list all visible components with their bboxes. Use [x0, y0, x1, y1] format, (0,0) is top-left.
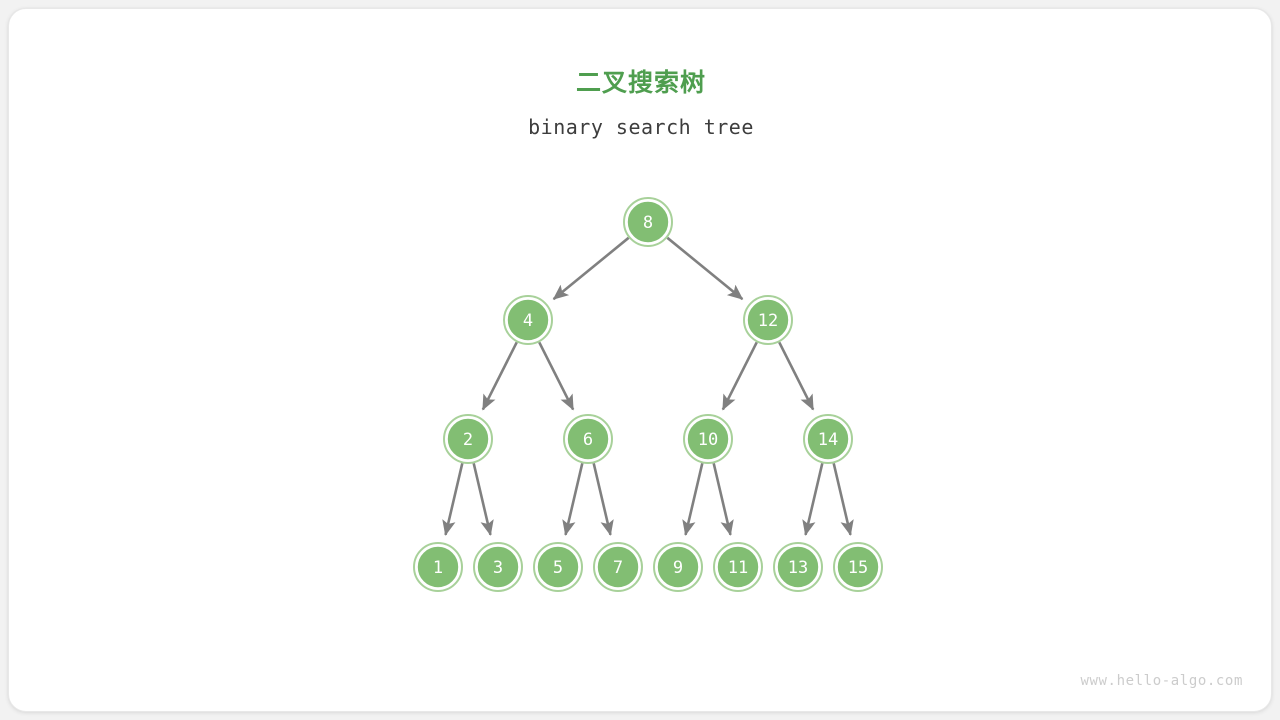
tree-node-8[interactable]: 8 [624, 198, 672, 246]
tree-edge-14-to-15 [834, 463, 851, 535]
node-label-2: 2 [463, 430, 473, 450]
tree-edges [446, 238, 851, 535]
screenshot-stage: 二叉搜索树 binary search tree 841226101413579… [0, 0, 1280, 720]
binary-search-tree-diagram: 841226101413579111315 [9, 9, 1272, 712]
tree-node-13[interactable]: 13 [774, 543, 822, 591]
node-label-4: 4 [523, 311, 533, 331]
tree-edge-8-to-12 [667, 238, 742, 299]
tree-edge-4-to-6 [539, 342, 573, 409]
tree-edge-14-to-13 [806, 463, 823, 535]
tree-edge-10-to-9 [686, 463, 703, 535]
tree-node-14[interactable]: 14 [804, 415, 852, 463]
tree-edge-4-to-2 [483, 342, 517, 409]
tree-node-11[interactable]: 11 [714, 543, 762, 591]
tree-node-15[interactable]: 15 [834, 543, 882, 591]
tree-edge-2-to-3 [474, 463, 491, 535]
node-label-7: 7 [613, 558, 623, 578]
node-label-15: 15 [848, 558, 868, 578]
node-label-12: 12 [758, 311, 778, 331]
node-label-1: 1 [433, 558, 443, 578]
tree-node-1[interactable]: 1 [414, 543, 462, 591]
tree-node-2[interactable]: 2 [444, 415, 492, 463]
tree-node-10[interactable]: 10 [684, 415, 732, 463]
node-label-10: 10 [698, 430, 718, 450]
site-watermark: www.hello-algo.com [1080, 673, 1243, 689]
node-label-8: 8 [643, 213, 653, 233]
tree-edge-12-to-14 [779, 342, 813, 409]
tree-node-3[interactable]: 3 [474, 543, 522, 591]
tree-edge-10-to-11 [714, 463, 731, 535]
node-label-6: 6 [583, 430, 593, 450]
diagram-card: 二叉搜索树 binary search tree 841226101413579… [8, 8, 1272, 712]
tree-edge-6-to-5 [566, 463, 583, 535]
node-label-13: 13 [788, 558, 808, 578]
node-label-11: 11 [728, 558, 748, 578]
node-label-14: 14 [818, 430, 838, 450]
tree-nodes: 841226101413579111315 [414, 198, 882, 591]
node-label-9: 9 [673, 558, 683, 578]
node-label-5: 5 [553, 558, 563, 578]
tree-edge-6-to-7 [594, 463, 611, 535]
tree-node-6[interactable]: 6 [564, 415, 612, 463]
tree-node-5[interactable]: 5 [534, 543, 582, 591]
tree-edge-8-to-4 [554, 238, 629, 299]
tree-edge-12-to-10 [723, 342, 757, 409]
tree-node-9[interactable]: 9 [654, 543, 702, 591]
tree-node-7[interactable]: 7 [594, 543, 642, 591]
tree-node-12[interactable]: 12 [744, 296, 792, 344]
tree-node-4[interactable]: 4 [504, 296, 552, 344]
node-label-3: 3 [493, 558, 503, 578]
tree-edge-2-to-1 [446, 463, 463, 535]
